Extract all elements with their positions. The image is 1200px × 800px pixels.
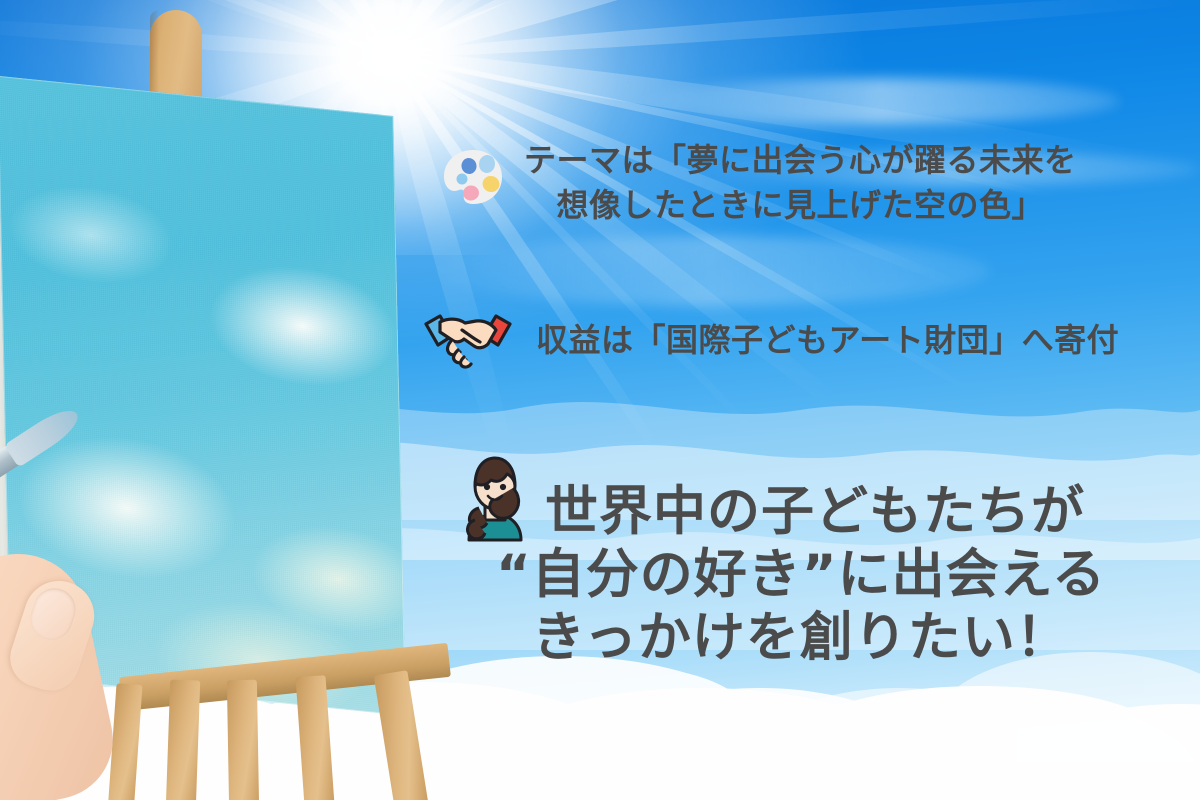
bullet-donation-text: 収益は「国際子どもアート財団」へ寄付	[536, 320, 1119, 362]
headline-line-1: 世界中の子どもたちが	[545, 481, 1085, 544]
headline-line-2: “自分の好き”に出会える	[461, 544, 1141, 607]
poster-content: テーマは「夢に出会う心が躍る未来を 想像したときに見上げた空の色」	[0, 0, 1200, 800]
artist-palette-icon	[440, 146, 506, 212]
woman-icon	[455, 452, 535, 544]
handshake-icon	[418, 308, 518, 374]
bullet-donation: 収益は「国際子どもアート財団」へ寄付	[418, 308, 1119, 374]
headline-line-3: きっかけを創りたい！	[461, 607, 1141, 670]
poster-canvas: テーマは「夢に出会う心が躍る未来を 想像したときに見上げた空の色」	[0, 0, 1200, 800]
headline-block: 世界中の子どもたちが “自分の好き”に出会える きっかけを創りたい！	[455, 452, 1175, 669]
bullet-theme-text: テーマは「夢に出会う心が躍る未来を 想像したときに見上げた空の色」	[524, 138, 1077, 229]
bullet-theme: テーマは「夢に出会う心が躍る未来を 想像したときに見上げた空の色」	[440, 138, 1077, 229]
headline-row-1: 世界中の子どもたちが	[455, 452, 1175, 544]
